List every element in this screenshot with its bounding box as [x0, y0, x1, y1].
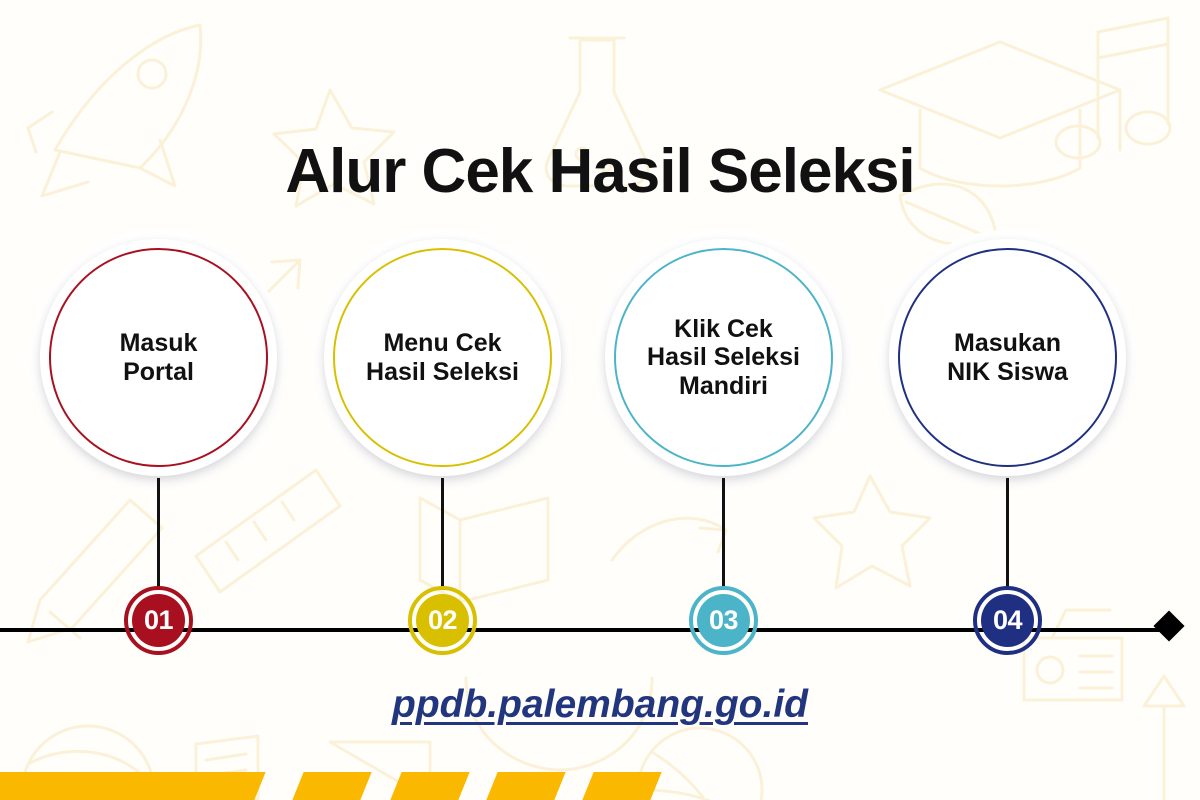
step-4-badge-number: 04 [993, 607, 1022, 634]
step-2-badge-number: 02 [428, 607, 457, 634]
site-url-link[interactable]: ppdb.palembang.go.id [0, 683, 1200, 727]
step-3-label: Klik Cek Hasil Seleksi Mandiri [635, 315, 812, 400]
step-2-bubble[interactable]: Menu Cek Hasil Seleksi [324, 239, 561, 476]
step-2-badge[interactable]: 02 [408, 586, 477, 655]
bottom-stripe-2 [390, 772, 469, 800]
step-1-bubble[interactable]: Masuk Portal [40, 239, 277, 476]
step-4-connector-line [1006, 478, 1009, 590]
timeline-step-4: Masukan NIK Siswa 04 [862, 0, 1152, 800]
step-2-bubble-circle: Menu Cek Hasil Seleksi [333, 248, 552, 467]
step-4-bubble[interactable]: Masukan NIK Siswa [889, 239, 1126, 476]
timeline-step-1: Masuk Portal 01 [13, 0, 303, 800]
step-1-label: Masuk Portal [108, 329, 210, 386]
step-3-badge-number: 03 [709, 607, 738, 634]
step-4-badge-core: 04 [981, 594, 1034, 647]
step-3-badge-core: 03 [697, 594, 750, 647]
timeline-step-2: Menu Cek Hasil Seleksi 02 [297, 0, 587, 800]
step-2-badge-core: 02 [416, 594, 469, 647]
step-3-badge[interactable]: 03 [689, 586, 758, 655]
infographic-canvas: Alur Cek Hasil Seleksi Masuk Portal 01 M… [0, 0, 1200, 800]
step-4-label: Masukan NIK Siswa [935, 329, 1080, 386]
step-2-label: Menu Cek Hasil Seleksi [354, 329, 531, 386]
timeline-arrow-end-icon [1153, 610, 1184, 641]
step-1-badge-number: 01 [144, 607, 173, 634]
bottom-stripe-solid [0, 772, 266, 800]
bottom-stripe-1 [292, 772, 371, 800]
step-1-connector-line [157, 478, 160, 590]
step-3-connector-line [722, 478, 725, 590]
bottom-stripe-3 [486, 772, 565, 800]
step-1-bubble-circle: Masuk Portal [49, 248, 268, 467]
step-1-badge-core: 01 [132, 594, 185, 647]
step-4-bubble-circle: Masukan NIK Siswa [898, 248, 1117, 467]
step-1-badge[interactable]: 01 [124, 586, 193, 655]
step-3-bubble-circle: Klik Cek Hasil Seleksi Mandiri [614, 248, 833, 467]
page-title: Alur Cek Hasil Seleksi [0, 136, 1200, 207]
bottom-stripe-band [0, 764, 1200, 800]
step-2-connector-line [441, 478, 444, 590]
step-3-bubble[interactable]: Klik Cek Hasil Seleksi Mandiri [605, 239, 842, 476]
bottom-stripe-4 [582, 772, 661, 800]
step-4-badge[interactable]: 04 [973, 586, 1042, 655]
timeline-step-3: Klik Cek Hasil Seleksi Mandiri 03 [578, 0, 868, 800]
